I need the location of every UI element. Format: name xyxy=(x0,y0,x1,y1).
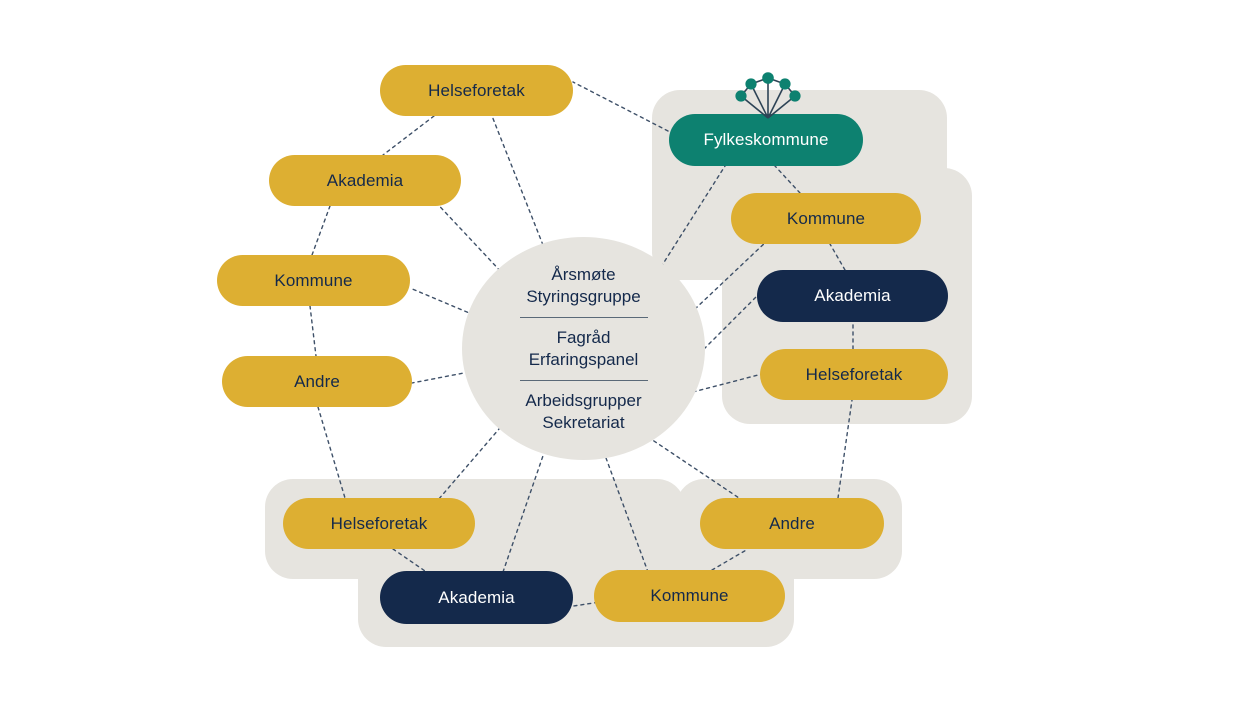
node-kommune-top-right[interactable]: Kommune xyxy=(731,193,921,244)
node-label: Akademia xyxy=(814,286,890,306)
node-label: Kommune xyxy=(787,209,865,229)
node-label: Helseforetak xyxy=(331,514,428,534)
node-kommune-left[interactable]: Kommune xyxy=(217,255,410,306)
hub-section-advisory: Fagråd Erfaringspanel xyxy=(529,327,639,371)
hub-line-erfaringspanel: Erfaringspanel xyxy=(529,349,639,371)
node-label: Kommune xyxy=(274,271,352,291)
hub-section-operations: Arbeidsgrupper Sekretariat xyxy=(525,390,641,434)
node-label: Fylkeskommune xyxy=(703,130,828,150)
node-label: Helseforetak xyxy=(428,81,525,101)
hub-line-arsmote: Årsmøte xyxy=(526,264,640,286)
node-akademia-right[interactable]: Akademia xyxy=(757,270,948,322)
hub-line-sekretariat: Sekretariat xyxy=(525,412,641,434)
node-label: Kommune xyxy=(650,586,728,606)
node-akademia-bottom[interactable]: Akademia xyxy=(380,571,573,624)
center-hub: Årsmøte Styringsgruppe Fagråd Erfaringsp… xyxy=(462,237,705,460)
node-label: Andre xyxy=(769,514,815,534)
hub-line-arbeidsgrupper: Arbeidsgrupper xyxy=(525,390,641,412)
node-akademia-left-upper[interactable]: Akademia xyxy=(269,155,461,206)
node-label: Akademia xyxy=(327,171,403,191)
node-label: Helseforetak xyxy=(806,365,903,385)
hub-section-governance: Årsmøte Styringsgruppe xyxy=(526,264,640,308)
node-label: Andre xyxy=(294,372,340,392)
node-andre-left[interactable]: Andre xyxy=(222,356,412,407)
network-nodes-icon xyxy=(728,64,808,124)
node-kommune-bottom[interactable]: Kommune xyxy=(594,570,785,622)
hub-divider-2 xyxy=(520,380,648,381)
diagram-canvas: Årsmøte Styringsgruppe Fagråd Erfaringsp… xyxy=(0,0,1260,709)
node-helseforetak-top[interactable]: Helseforetak xyxy=(380,65,573,116)
node-andre-bottom-right[interactable]: Andre xyxy=(700,498,884,549)
node-helseforetak-bottom[interactable]: Helseforetak xyxy=(283,498,475,549)
node-helseforetak-right[interactable]: Helseforetak xyxy=(760,349,948,400)
node-label: Akademia xyxy=(438,588,514,608)
hub-line-fagrad: Fagråd xyxy=(529,327,639,349)
hub-divider-1 xyxy=(520,317,648,318)
hub-line-styringsgruppe: Styringsgruppe xyxy=(526,286,640,308)
